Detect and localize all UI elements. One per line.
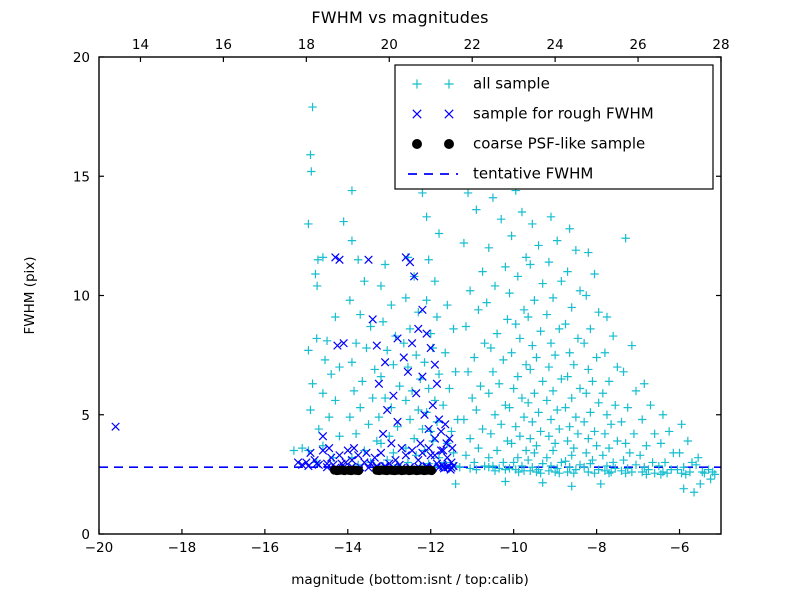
marker-plus [684, 437, 692, 445]
marker-plus [557, 458, 565, 466]
marker-cross [377, 449, 385, 457]
marker-plus [470, 458, 478, 466]
marker-plus [485, 389, 493, 397]
marker-plus [350, 387, 358, 395]
marker-plus [563, 468, 571, 476]
marker-plus [424, 256, 432, 264]
marker-plus [661, 458, 669, 466]
marker-cross [381, 358, 389, 366]
marker-plus [364, 420, 372, 428]
marker-plus [568, 482, 576, 490]
marker-plus [462, 322, 470, 330]
marker-plus [335, 432, 343, 440]
marker-cross [437, 428, 445, 436]
marker-plus [603, 313, 611, 321]
marker-plus [538, 279, 546, 287]
marker-plus [543, 310, 551, 318]
marker-plus [592, 353, 600, 361]
marker-plus [524, 399, 532, 407]
marker-plus [526, 365, 534, 373]
tick-label-left: 0 [81, 527, 90, 543]
marker-cross [429, 401, 437, 409]
marker-plus [538, 479, 546, 487]
marker-plus [468, 394, 476, 402]
marker-plus [561, 457, 569, 465]
marker-plus [607, 468, 615, 476]
legend-label: tentative FWHM [473, 165, 593, 183]
legend: all samplesample for rough FWHMcoarse PS… [395, 65, 713, 189]
marker-plus [514, 272, 522, 280]
marker-plus [499, 458, 507, 466]
marker-plus [694, 453, 702, 461]
marker-plus [617, 418, 625, 426]
marker-plus [619, 456, 627, 464]
marker-plus [640, 380, 648, 388]
marker-plus [601, 430, 609, 438]
marker-plus [485, 244, 493, 252]
marker-cross [414, 456, 422, 464]
marker-plus [402, 396, 410, 404]
marker-plus [485, 453, 493, 461]
marker-plus [497, 215, 505, 223]
marker-plus [447, 427, 455, 435]
marker-plus [590, 469, 598, 477]
marker-plus [597, 480, 605, 488]
marker-plus [518, 394, 526, 402]
marker-plus [514, 372, 522, 380]
marker-plus [387, 301, 395, 309]
marker-cross [294, 459, 302, 467]
marker-plus [487, 430, 495, 438]
marker-plus [512, 422, 520, 430]
marker-plus [435, 229, 443, 237]
marker-cross [402, 451, 410, 459]
marker-plus [619, 368, 627, 376]
marker-plus [524, 456, 532, 464]
marker-plus [628, 468, 636, 476]
marker-plus [590, 427, 598, 435]
tick-label-top: 18 [298, 37, 315, 53]
marker-plus [451, 368, 459, 376]
marker-plus [650, 469, 658, 477]
marker-plus [371, 365, 379, 373]
marker-plus [611, 401, 619, 409]
marker-plus [356, 310, 364, 318]
legend-label: coarse PSF-like sample [473, 135, 645, 153]
marker-plus [464, 189, 472, 197]
marker-plus [424, 384, 432, 392]
marker-plus [304, 346, 312, 354]
marker-plus [547, 415, 555, 423]
marker-plus [642, 442, 650, 450]
marker-plus [360, 277, 368, 285]
marker-cross [375, 380, 383, 388]
marker-plus [420, 358, 428, 366]
marker-plus [307, 167, 315, 175]
marker-plus [599, 389, 607, 397]
marker-plus [586, 408, 594, 416]
marker-plus [545, 363, 553, 371]
marker-plus [462, 451, 470, 459]
marker-plus [404, 363, 412, 371]
marker-plus [599, 451, 607, 459]
marker-plus [572, 246, 580, 254]
marker-plus [393, 422, 401, 430]
marker-plus [395, 382, 403, 390]
marker-plus [512, 320, 520, 328]
marker-plus [592, 442, 600, 450]
marker-cross [336, 451, 344, 459]
marker-plus [315, 425, 323, 433]
marker-plus [346, 413, 354, 421]
marker-plus [584, 434, 592, 442]
marker-plus [489, 194, 497, 202]
marker-plus [555, 469, 563, 477]
marker-plus [356, 403, 364, 411]
marker-plus [377, 372, 385, 380]
marker-plus [443, 301, 451, 309]
marker-plus [675, 449, 683, 457]
marker-plus [366, 322, 374, 330]
marker-plus [505, 289, 513, 297]
marker-plus [557, 277, 565, 285]
marker-plus [582, 389, 590, 397]
marker-plus [553, 406, 561, 414]
marker-plus [574, 430, 582, 438]
marker-plus [449, 325, 457, 333]
marker-plus [613, 437, 621, 445]
tick-label-bottom: −14 [334, 540, 363, 556]
marker-plus [576, 287, 584, 295]
marker-plus [346, 296, 354, 304]
marker-plus [584, 248, 592, 256]
marker-plus [621, 234, 629, 242]
marker-plus [319, 442, 327, 450]
tick-label-left: 5 [81, 408, 90, 424]
marker-plus [472, 205, 480, 213]
marker-plus [323, 337, 331, 345]
marker-plus [487, 344, 495, 352]
tick-label-bottom: −10 [499, 540, 528, 556]
marker-plus [514, 453, 522, 461]
marker-plus [339, 217, 347, 225]
marker-plus [431, 277, 439, 285]
legend-label: sample for rough FWHM [473, 105, 654, 123]
tick-label-top: 26 [629, 37, 646, 53]
marker-cross [388, 440, 396, 448]
marker-plus [313, 334, 321, 342]
marker-plus [534, 241, 542, 249]
marker-cross [408, 339, 416, 347]
marker-plus [377, 282, 385, 290]
marker-plus [456, 463, 464, 471]
marker-plus [528, 220, 536, 228]
marker-plus [588, 456, 596, 464]
marker-plus [497, 420, 505, 428]
marker-plus [466, 434, 474, 442]
marker-plus [638, 415, 646, 423]
marker-plus [520, 413, 528, 421]
marker-plus [549, 294, 557, 302]
marker-plus [476, 382, 484, 390]
marker-plus [605, 377, 613, 385]
marker-plus [565, 422, 573, 430]
marker-plus [466, 287, 474, 295]
marker-cross [112, 423, 120, 431]
marker-plus [451, 480, 459, 488]
marker-cross [325, 444, 333, 452]
marker-plus [574, 334, 582, 342]
marker-plus [588, 377, 596, 385]
marker-plus [505, 464, 513, 472]
marker-plus [650, 430, 658, 438]
marker-plus [524, 313, 532, 321]
marker-plus [603, 411, 611, 419]
marker-plus [410, 434, 418, 442]
marker-plus [362, 344, 370, 352]
marker-circle [427, 466, 436, 475]
marker-plus [491, 411, 499, 419]
tick-label-left: 10 [73, 289, 90, 305]
legend-label: all sample [473, 75, 550, 93]
marker-plus [582, 291, 590, 299]
marker-plus [626, 449, 634, 457]
marker-plus [605, 444, 613, 452]
marker-plus [325, 413, 333, 421]
marker-plus [509, 384, 517, 392]
marker-plus [543, 453, 551, 461]
marker-plus [495, 380, 503, 388]
marker-plus [609, 332, 617, 340]
tick-label-top: 16 [215, 37, 232, 53]
marker-plus [439, 401, 447, 409]
marker-plus [536, 469, 544, 477]
marker-plus [536, 327, 544, 335]
marker-plus [518, 208, 526, 216]
marker-cross [319, 432, 327, 440]
marker-plus [381, 394, 389, 402]
marker-cross [433, 380, 441, 388]
y-axis-label: FWHM (pix) [22, 256, 38, 334]
marker-plus [381, 260, 389, 268]
series-sample-for-rough-fwhm [112, 254, 458, 474]
marker-plus [555, 325, 563, 333]
marker-plus [677, 420, 685, 428]
marker-plus [547, 339, 555, 347]
marker-plus [582, 449, 590, 457]
marker-plus [501, 263, 509, 271]
marker-plus [632, 461, 640, 469]
tick-label-top: 14 [132, 37, 149, 53]
marker-plus [568, 394, 576, 402]
marker-plus [375, 413, 383, 421]
marker-plus [553, 236, 561, 244]
marker-plus [348, 358, 356, 366]
marker-plus [429, 344, 437, 352]
marker-plus [532, 353, 540, 361]
marker-plus [580, 339, 588, 347]
marker-plus [576, 384, 584, 392]
marker-plus [354, 256, 362, 264]
marker-plus [530, 389, 538, 397]
marker-plus [406, 325, 414, 333]
marker-plus [534, 408, 542, 416]
marker-plus [335, 363, 343, 371]
marker-cross [336, 256, 344, 264]
marker-plus [570, 469, 578, 477]
marker-plus [306, 151, 314, 159]
marker-plus [348, 186, 356, 194]
marker-cross [350, 444, 358, 452]
marker-plus [466, 464, 474, 472]
marker-plus [522, 360, 530, 368]
marker-plus [308, 380, 316, 388]
marker-plus [528, 418, 536, 426]
marker-plus [493, 329, 501, 337]
marker-plus [352, 430, 360, 438]
marker-cross [400, 354, 408, 362]
tick-label-left: 15 [73, 169, 90, 185]
marker-cross [332, 254, 340, 262]
marker-circle [412, 139, 422, 149]
marker-plus [480, 339, 488, 347]
marker-plus [368, 394, 376, 402]
marker-plus [327, 370, 335, 378]
marker-plus [427, 329, 435, 337]
marker-plus [563, 267, 571, 275]
tick-label-top: 24 [547, 37, 564, 53]
marker-plus [551, 468, 559, 476]
marker-cross [379, 430, 387, 438]
marker-plus [526, 434, 534, 442]
marker-plus [586, 325, 594, 333]
marker-plus [543, 396, 551, 404]
marker-plus [532, 442, 540, 450]
marker-plus [499, 356, 507, 364]
marker-plus [383, 346, 391, 354]
marker-plus [530, 449, 538, 457]
marker-plus [580, 418, 588, 426]
x-axis-label: magnitude (bottom:isnt / top:calib) [291, 572, 528, 588]
marker-plus [522, 446, 530, 454]
marker-plus [646, 401, 654, 409]
marker-cross [354, 451, 362, 459]
marker-plus [572, 413, 580, 421]
marker-plus [435, 370, 443, 378]
marker-plus [561, 403, 569, 411]
figure-canvas: FWHM vs magnitudes −20−18−16−14−12−10−8−… [0, 0, 800, 600]
marker-plus [304, 220, 312, 228]
marker-plus [538, 377, 546, 385]
marker-plus [441, 349, 449, 357]
marker-plus [321, 356, 329, 364]
marker-plus [570, 360, 578, 368]
marker-plus [503, 315, 511, 323]
marker-plus [311, 270, 319, 278]
marker-plus [402, 444, 410, 452]
marker-plus [679, 484, 687, 492]
marker-plus [308, 103, 316, 111]
marker-plus [402, 294, 410, 302]
marker-plus [507, 349, 515, 357]
marker-plus [570, 444, 578, 452]
marker-plus [520, 306, 528, 314]
marker-plus [528, 341, 536, 349]
marker-plus [352, 339, 360, 347]
marker-plus [659, 411, 667, 419]
marker-plus [319, 389, 327, 397]
marker-plus [501, 477, 509, 485]
marker-plus [563, 437, 571, 445]
marker-plus [607, 420, 615, 428]
marker-plus [632, 387, 640, 395]
marker-cross [427, 451, 435, 459]
marker-cross [408, 447, 416, 455]
marker-cross [365, 256, 373, 264]
marker-plus [489, 368, 497, 376]
marker-plus [478, 425, 486, 433]
tick-label-left: 20 [73, 50, 90, 66]
marker-plus [584, 365, 592, 373]
marker-plus [400, 339, 408, 347]
marker-plus [545, 258, 553, 266]
marker-plus [522, 253, 530, 261]
tick-label-bottom: −8 [587, 540, 607, 556]
marker-plus [470, 353, 478, 361]
marker-plus [480, 462, 488, 470]
marker-plus [545, 432, 553, 440]
marker-plus [677, 469, 685, 477]
marker-cross [344, 447, 352, 455]
marker-cross [414, 325, 422, 333]
marker-plus [412, 351, 420, 359]
marker-plus [422, 296, 430, 304]
marker-plus [414, 406, 422, 414]
marker-plus [568, 303, 576, 311]
marker-plus [594, 308, 602, 316]
marker-plus [491, 282, 499, 290]
marker-plus [509, 458, 517, 466]
marker-plus [389, 449, 397, 457]
tick-label-top: 22 [464, 37, 481, 53]
marker-plus [406, 415, 414, 423]
marker-plus [331, 313, 339, 321]
marker-plus [655, 462, 663, 470]
marker-plus [603, 462, 611, 470]
marker-plus [516, 334, 524, 342]
marker-cross [340, 339, 348, 347]
marker-plus [422, 213, 430, 221]
marker-plus [696, 480, 704, 488]
tick-label-top: 20 [381, 37, 398, 53]
marker-plus [549, 387, 557, 395]
marker-plus [549, 446, 557, 454]
marker-plus [433, 313, 441, 321]
marker-plus [536, 427, 544, 435]
marker-plus [551, 351, 559, 359]
marker-plus [568, 451, 576, 459]
marker-plus [464, 368, 472, 376]
marker-plus [594, 399, 602, 407]
marker-plus [483, 298, 491, 306]
marker-plus [565, 349, 573, 357]
marker-plus [590, 270, 598, 278]
marker-circle [354, 466, 363, 475]
marker-plus [507, 232, 515, 240]
marker-plus [485, 463, 493, 471]
marker-plus [561, 320, 569, 328]
marker-cross [417, 440, 425, 448]
